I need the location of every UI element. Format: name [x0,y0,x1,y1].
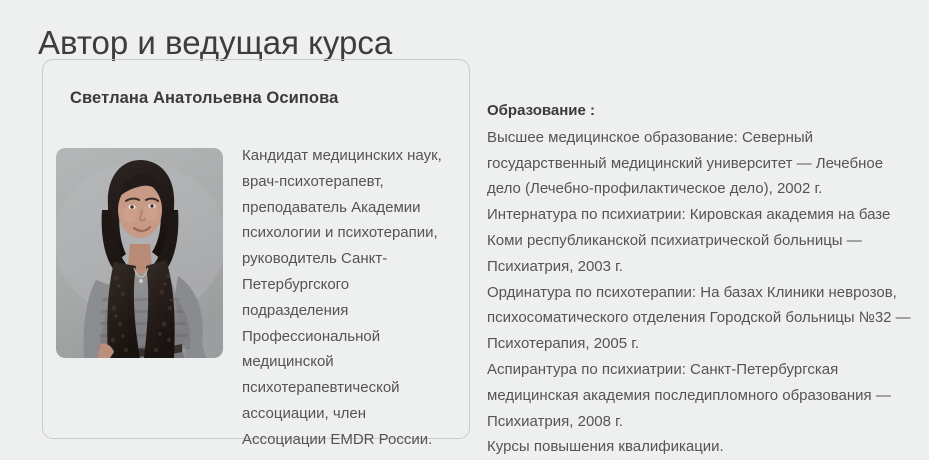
education-section: Образование : Высшее медицинское образов… [487,98,912,460]
instructor-photo [56,148,223,358]
education-item: Курсы повышения квалификации. [487,434,912,460]
education-item: Аспирантура по психиатрии: Санкт-Петербу… [487,357,912,434]
education-item: Интернатура по психиатрии: Кировская ака… [487,202,912,279]
portrait-photo-icon [56,148,223,358]
instructor-profile-card: Светлана Анатольевна Осипова [42,59,470,439]
page-root: Автор и ведущая курса Светлана Анатольев… [0,0,929,447]
instructor-name: Светлана Анатольевна Осипова [70,87,450,109]
education-item: Ординатура по психотерапии: На базах Кли… [487,280,912,357]
education-item: Высшее медицинское образование: Северный… [487,125,912,202]
education-heading: Образование : [487,98,912,124]
instructor-bio: Кандидат медицинских наук, врач-психотер… [242,143,442,453]
